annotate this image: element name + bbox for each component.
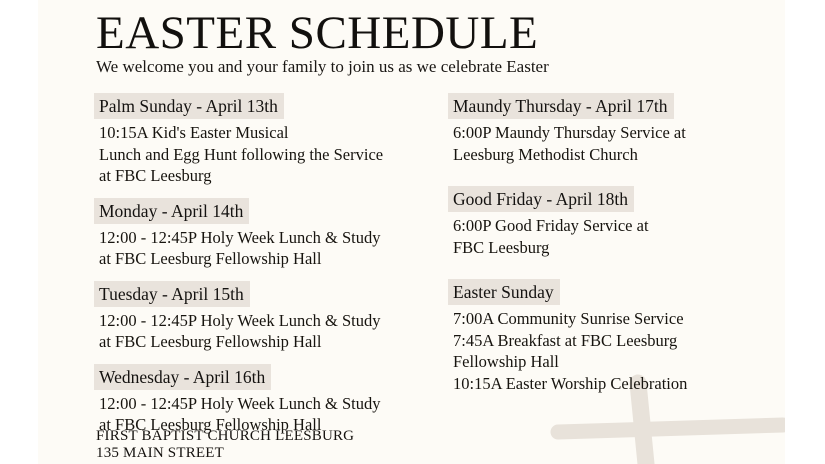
entry-line: 12:00 - 12:45P Holy Week Lunch & Study <box>99 227 454 249</box>
entry-line: 7:00A Community Sunrise Service <box>453 308 778 330</box>
entry-line: Lunch and Egg Hunt following the Service <box>99 144 454 166</box>
flyer-content: HOLY WEEK & EASTER SCHEDULE We welcome y… <box>38 0 785 464</box>
entry-line: FBC Leesburg <box>453 237 778 259</box>
entry-line: 7:45A Breakfast at FBC Leesburg <box>453 330 778 352</box>
entry-heading: Tuesday - April 15th <box>94 281 250 307</box>
entry-line: Fellowship Hall <box>453 351 778 373</box>
footer-line-street: 135 MAIN STREET <box>96 445 516 462</box>
entry-heading: Easter Sunday <box>448 279 560 305</box>
column-spacer <box>448 176 778 186</box>
entry-line: at FBC Leesburg Fellowship Hall <box>99 248 454 270</box>
entry-lines: 12:00 - 12:45P Holy Week Lunch & Study a… <box>94 227 454 270</box>
schedule-column-right: Maundy Thursday - April 17th 6:00P Maund… <box>448 93 778 394</box>
entry-line: at FBC Leesburg <box>99 165 454 187</box>
entry-line: 12:00 - 12:45P Holy Week Lunch & Study <box>99 310 454 332</box>
entry-line: 12:00 - 12:45P Holy Week Lunch & Study <box>99 393 454 415</box>
entry-line: 6:00P Maundy Thursday Service at <box>453 122 778 144</box>
entry-lines: 6:00P Maundy Thursday Service at Leesbur… <box>448 122 778 165</box>
entry-line: 10:15A Kid's Easter Musical <box>99 122 454 144</box>
subtitle: We welcome you and your family to join u… <box>96 56 549 77</box>
entry-lines: 10:15A Kid's Easter Musical Lunch and Eg… <box>94 122 454 187</box>
title-line-2: EASTER SCHEDULE <box>96 8 756 58</box>
schedule-entry: Tuesday - April 15th 12:00 - 12:45P Holy… <box>94 281 454 353</box>
schedule-entry: Wednesday - April 16th 12:00 - 12:45P Ho… <box>94 364 454 436</box>
schedule-entry: Good Friday - April 18th 6:00P Good Frid… <box>448 186 778 258</box>
schedule-entry: Easter Sunday 7:00A Community Sunrise Se… <box>448 279 778 394</box>
schedule-entry: Palm Sunday - April 13th 10:15A Kid's Ea… <box>94 93 454 187</box>
schedule-entry: Maundy Thursday - April 17th 6:00P Maund… <box>448 93 778 165</box>
footer-line-church: FIRST BAPTIST CHURCH LEESBURG <box>96 428 516 445</box>
footer-address: FIRST BAPTIST CHURCH LEESBURG 135 MAIN S… <box>96 428 516 461</box>
entry-line: 10:15A Easter Worship Celebration <box>453 373 778 395</box>
schedule-entry: Monday - April 14th 12:00 - 12:45P Holy … <box>94 198 454 270</box>
schedule-column-left: Palm Sunday - April 13th 10:15A Kid's Ea… <box>94 93 454 436</box>
entry-lines: 12:00 - 12:45P Holy Week Lunch & Study a… <box>94 310 454 353</box>
entry-lines: 6:00P Good Friday Service at FBC Leesbur… <box>448 215 778 258</box>
entry-heading: Palm Sunday - April 13th <box>94 93 284 119</box>
entry-line: at FBC Leesburg Fellowship Hall <box>99 331 454 353</box>
column-spacer <box>448 269 778 279</box>
flyer-canvas: HOLY WEEK & EASTER SCHEDULE We welcome y… <box>38 0 785 464</box>
entry-heading: Monday - April 14th <box>94 198 249 224</box>
page-title: HOLY WEEK & EASTER SCHEDULE <box>96 0 756 58</box>
entry-lines: 7:00A Community Sunrise Service 7:45A Br… <box>448 308 778 394</box>
entry-line: Leesburg Methodist Church <box>453 144 778 166</box>
entry-heading: Wednesday - April 16th <box>94 364 271 390</box>
entry-heading: Good Friday - April 18th <box>448 186 634 212</box>
entry-line: 6:00P Good Friday Service at <box>453 215 778 237</box>
entry-heading: Maundy Thursday - April 17th <box>448 93 674 119</box>
